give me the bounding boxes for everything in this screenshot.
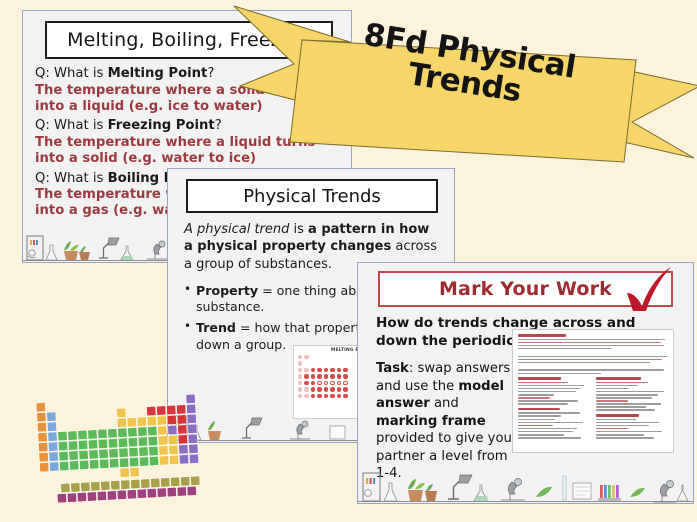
task-lead: Task [376, 361, 409, 376]
slide1-question-1: Q: What is Melting Point? [35, 65, 347, 83]
periodic-table-image [24, 391, 230, 514]
slide3-title: Mark Your Work [439, 278, 612, 300]
slide1-answer-2-line2: into a solid (e.g. water to ice) [35, 151, 347, 167]
bullet-trend-term: Trend [196, 320, 236, 335]
definition-mid1: is [289, 222, 308, 237]
task-part2: and [430, 396, 459, 411]
banner-title-line-2: Trends [314, 44, 615, 122]
bullet-property-term: Property [196, 283, 258, 298]
slide2-title: Physical Trends [243, 186, 381, 207]
science-clipart-svg [358, 469, 693, 503]
science-equipment-border [358, 469, 693, 503]
frame-heading [518, 334, 566, 337]
q2-lead: Q: What is [35, 118, 108, 133]
slide1-answer-1-line2: into a liquid (e.g. ice to water) [35, 99, 347, 115]
q2-bold: Freezing Point [108, 118, 215, 133]
q1-bold: Melting Point [108, 66, 208, 81]
resource-preview-stage: Melting, Boiling, Freezing Q: What is Me… [0, 0, 697, 522]
task-bold2: marking frame [376, 414, 486, 429]
slide3-title-box: Mark Your Work [378, 271, 673, 307]
slide1-question-2: Q: What is Freezing Point? [35, 117, 347, 135]
marking-frame-columns [518, 377, 668, 440]
q1-lead: Q: What is [35, 66, 108, 81]
slide1-answer-1-line1: The temperature where a solid turns [35, 83, 347, 99]
slide-mark-your-work[interactable]: Mark Your Work How do trends change acro… [357, 262, 694, 504]
banner-title: 8Fd Physical Trends [314, 13, 620, 123]
marking-frame-column-left [518, 377, 590, 440]
banner-title-line-1: 8Fd Physical [319, 13, 620, 91]
q2-tail: ? [215, 118, 222, 133]
checkmark-icon [619, 266, 675, 316]
slide1-answer-2-line1: The temperature where a liquid turns [35, 135, 347, 151]
slide3-task: Task: swap answers and use the model ans… [376, 360, 524, 483]
marking-frame-content [513, 330, 673, 444]
marking-frame-column-right [596, 377, 668, 440]
periodic-table-svg [24, 391, 230, 514]
slide2-title-box: Physical Trends [186, 179, 438, 213]
slide1-title-box: Melting, Boiling, Freezing [45, 21, 333, 59]
slide3-canvas: Mark Your Work How do trends change acro… [358, 263, 693, 503]
marking-frame-thumbnail [512, 329, 674, 453]
q1-tail: ? [207, 66, 214, 81]
q3-lead: Q: What is [35, 171, 108, 186]
slide1-title: Melting, Boiling, Freezing [67, 29, 311, 51]
definition-term: A physical trend [184, 222, 289, 237]
